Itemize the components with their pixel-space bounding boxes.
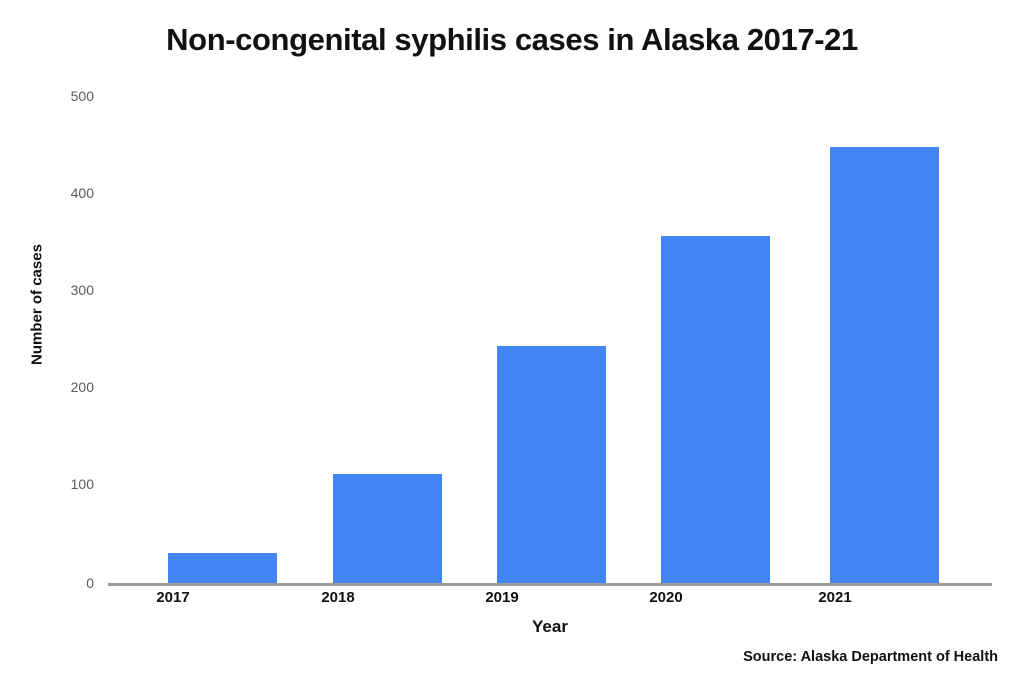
chart-title: Non-congenital syphilis cases in Alaska … xyxy=(0,22,1024,58)
y-tick-label-100: 100 xyxy=(50,477,94,491)
y-tick-label-400: 400 xyxy=(50,186,94,200)
bar-2019[interactable] xyxy=(497,346,606,583)
x-tick-label-2019: 2019 xyxy=(432,589,572,606)
y-axis-tick-labels: 500 400 300 200 100 0 xyxy=(38,0,94,682)
bar-2020[interactable] xyxy=(661,236,770,583)
bar-chart: Non-congenital syphilis cases in Alaska … xyxy=(0,0,1024,682)
x-tick-label-2021: 2021 xyxy=(765,589,905,606)
x-axis-line xyxy=(108,583,992,586)
bar-2018[interactable] xyxy=(333,474,442,583)
y-tick-label-500: 500 xyxy=(50,89,94,103)
x-tick-label-2020: 2020 xyxy=(596,589,736,606)
y-tick-label-200: 200 xyxy=(50,380,94,394)
y-axis-title: Number of cases xyxy=(29,225,46,385)
y-tick-label-0: 0 xyxy=(50,576,94,590)
x-tick-label-2017: 2017 xyxy=(103,589,243,606)
x-tick-label-2018: 2018 xyxy=(268,589,408,606)
y-tick-label-300: 300 xyxy=(50,283,94,297)
bar-2017[interactable] xyxy=(168,553,277,583)
x-axis-title: Year xyxy=(108,617,992,637)
bars-layer xyxy=(108,96,992,583)
source-note: Source: Alaska Department of Health xyxy=(743,649,998,665)
bar-2021[interactable] xyxy=(830,147,939,583)
